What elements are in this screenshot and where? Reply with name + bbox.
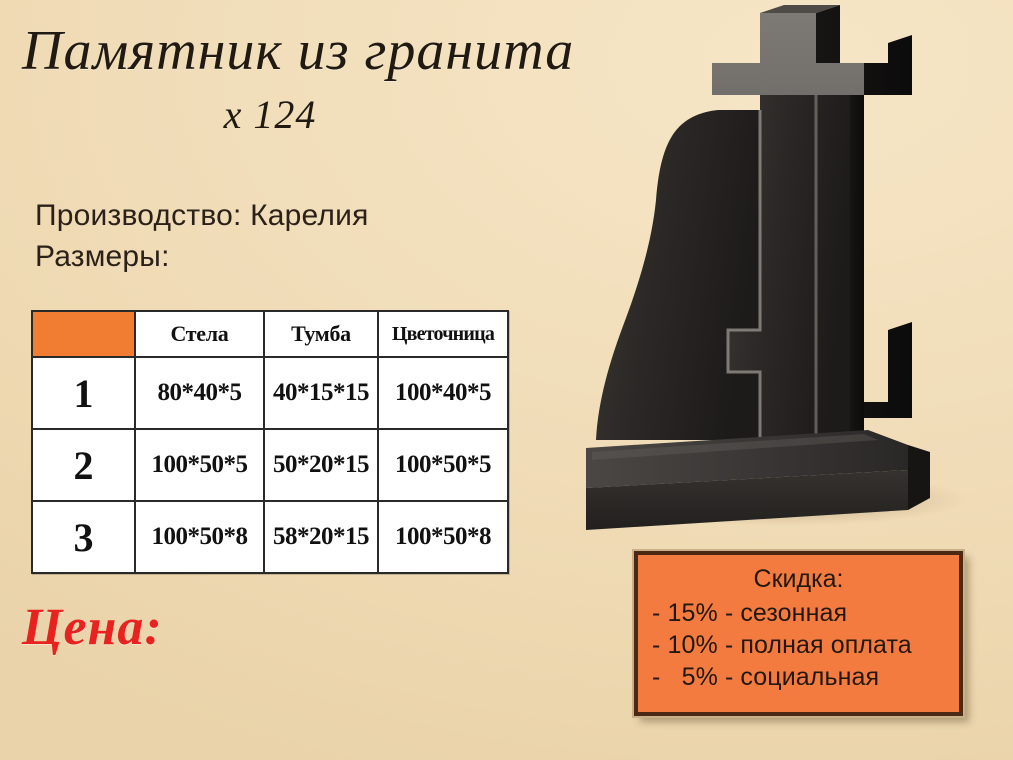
sizes-table-body: 1 80*40*5 40*15*15 100*40*5 2 100*50*5 5… xyxy=(32,357,508,573)
cell-stela: 80*40*5 xyxy=(135,357,264,429)
cell-tumba: 58*20*15 xyxy=(264,501,378,573)
table-row: 1 80*40*5 40*15*15 100*40*5 xyxy=(32,357,508,429)
sizes-table-wrapper: Стела Тумба Цветочница 1 80*40*5 40*15*1… xyxy=(31,310,507,574)
row-index: 1 xyxy=(32,357,135,429)
table-header-row: Стела Тумба Цветочница xyxy=(32,311,508,357)
price-label: Цена: xyxy=(22,598,163,657)
slide-canvas: Памятник из гранита х 124 Производство: … xyxy=(0,0,1013,760)
sizes-table-head: Стела Тумба Цветочница xyxy=(32,311,508,357)
monument-illustration xyxy=(578,0,1013,540)
page-subtitle: х 124 xyxy=(0,91,600,138)
cell-stela: 100*50*8 xyxy=(135,501,264,573)
discount-title: Скидка: xyxy=(652,565,945,595)
discount-line-full-payment: - 10% - полная оплата xyxy=(652,629,945,661)
cell-tumba: 40*15*15 xyxy=(264,357,378,429)
cell-flower: 100*40*5 xyxy=(378,357,508,429)
cell-flower: 100*50*8 xyxy=(378,501,508,573)
discount-box: Скидка: - 15% - сезонная - 10% - полная … xyxy=(634,551,963,716)
row-index: 2 xyxy=(32,429,135,501)
info-block: Производство: Карелия Размеры: xyxy=(35,195,555,278)
discount-line-seasonal: - 15% - сезонная xyxy=(652,597,945,629)
page-title: Памятник из гранита xyxy=(0,22,600,81)
sizes-table: Стела Тумба Цветочница 1 80*40*5 40*15*1… xyxy=(31,310,509,574)
table-row: 2 100*50*5 50*20*15 100*50*5 xyxy=(32,429,508,501)
discount-line-social: - 5% - социальная xyxy=(652,661,945,693)
cell-flower: 100*50*5 xyxy=(378,429,508,501)
table-header-tumba: Тумба xyxy=(264,311,378,357)
table-header-corner xyxy=(32,311,135,357)
table-header-stela: Стела xyxy=(135,311,264,357)
sizes-label: Размеры: xyxy=(35,236,555,277)
row-index: 3 xyxy=(32,501,135,573)
cell-tumba: 50*20*15 xyxy=(264,429,378,501)
cell-stela: 100*50*5 xyxy=(135,429,264,501)
table-row: 3 100*50*8 58*20*15 100*50*8 xyxy=(32,501,508,573)
production-line: Производство: Карелия xyxy=(35,195,555,236)
table-header-flower: Цветочница xyxy=(378,311,508,357)
title-block: Памятник из гранита х 124 xyxy=(0,22,600,138)
